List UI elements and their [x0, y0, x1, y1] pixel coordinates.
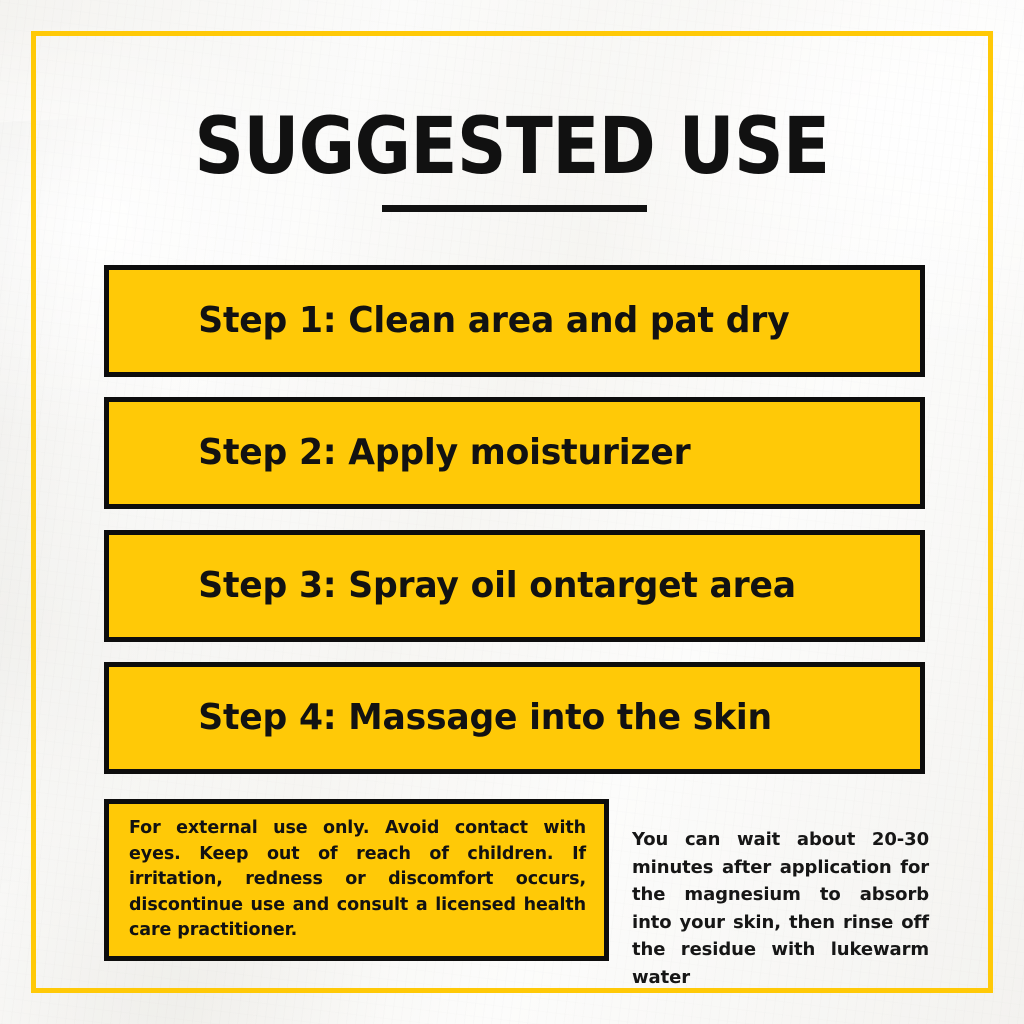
step-box-3: Step 3: Spray oil ontarget area	[104, 530, 925, 642]
step-label-4: Step 4: Massage into the skin	[109, 698, 772, 738]
title-underline-rule	[382, 205, 647, 212]
warning-text: For external use only. Avoid contact wit…	[109, 816, 604, 944]
page-title: SUGGESTED USE	[61, 104, 962, 190]
poster-content: SUGGESTED USE Step 1: Clean area and pat…	[0, 0, 1024, 1024]
warning-box: For external use only. Avoid contact wit…	[104, 799, 609, 961]
step-box-1: Step 1: Clean area and pat dry	[104, 265, 925, 377]
step-label-3: Step 3: Spray oil ontarget area	[109, 566, 796, 606]
step-box-4: Step 4: Massage into the skin	[104, 662, 925, 774]
step-label-2: Step 2: Apply moisturizer	[109, 433, 690, 473]
step-box-2: Step 2: Apply moisturizer	[104, 397, 925, 509]
step-label-1: Step 1: Clean area and pat dry	[109, 301, 789, 341]
poster-canvas: SUGGESTED USE Step 1: Clean area and pat…	[0, 0, 1024, 1024]
absorption-note-text: You can wait about 20-30 minutes after a…	[632, 826, 929, 991]
